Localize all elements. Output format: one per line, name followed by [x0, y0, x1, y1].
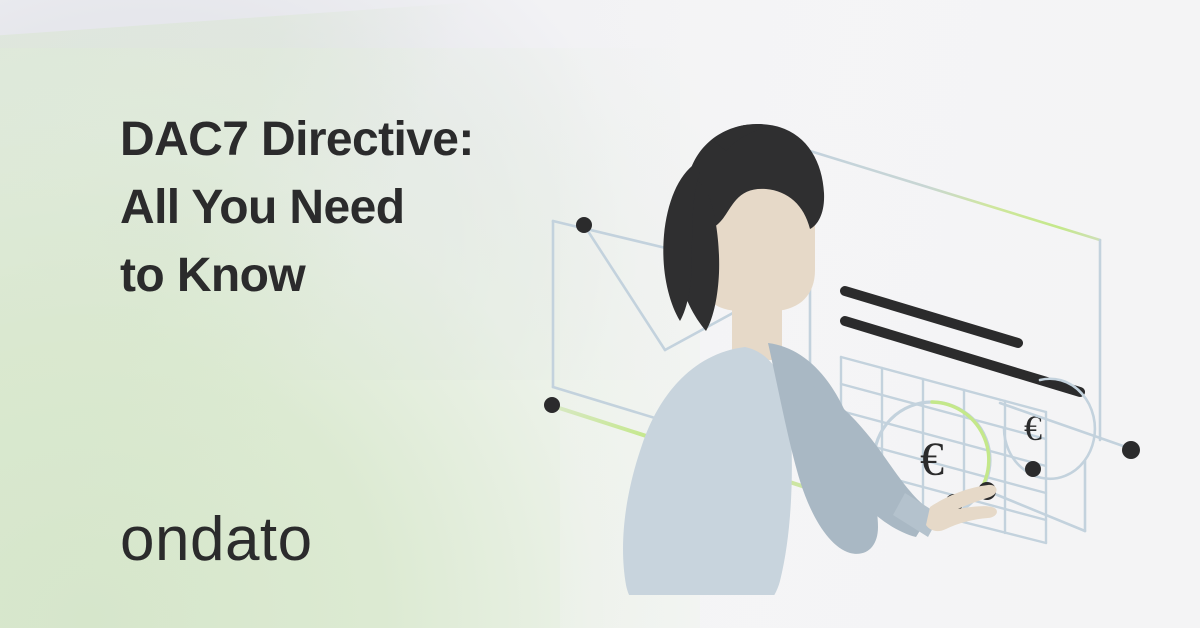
text-bar-top	[845, 291, 1018, 343]
euro-coin-small: €	[1004, 379, 1095, 479]
page-title: DAC7 Directive: All You Need to Know	[120, 106, 590, 310]
connector-dot-accent-line	[544, 397, 560, 413]
connector-dot-frame-right	[1122, 441, 1140, 459]
text-bar-bottom	[845, 321, 1080, 392]
euro-symbol-large: €	[920, 433, 944, 486]
illustration-svg: € €	[500, 95, 1200, 595]
brand-logo: ondato	[120, 504, 313, 576]
social-share-banner: € €	[0, 0, 1200, 628]
hero-illustration: € €	[500, 95, 1200, 595]
person-torso	[623, 347, 792, 595]
connector-dot-coin-small	[1025, 461, 1041, 477]
lower-right-frame	[990, 403, 1126, 531]
